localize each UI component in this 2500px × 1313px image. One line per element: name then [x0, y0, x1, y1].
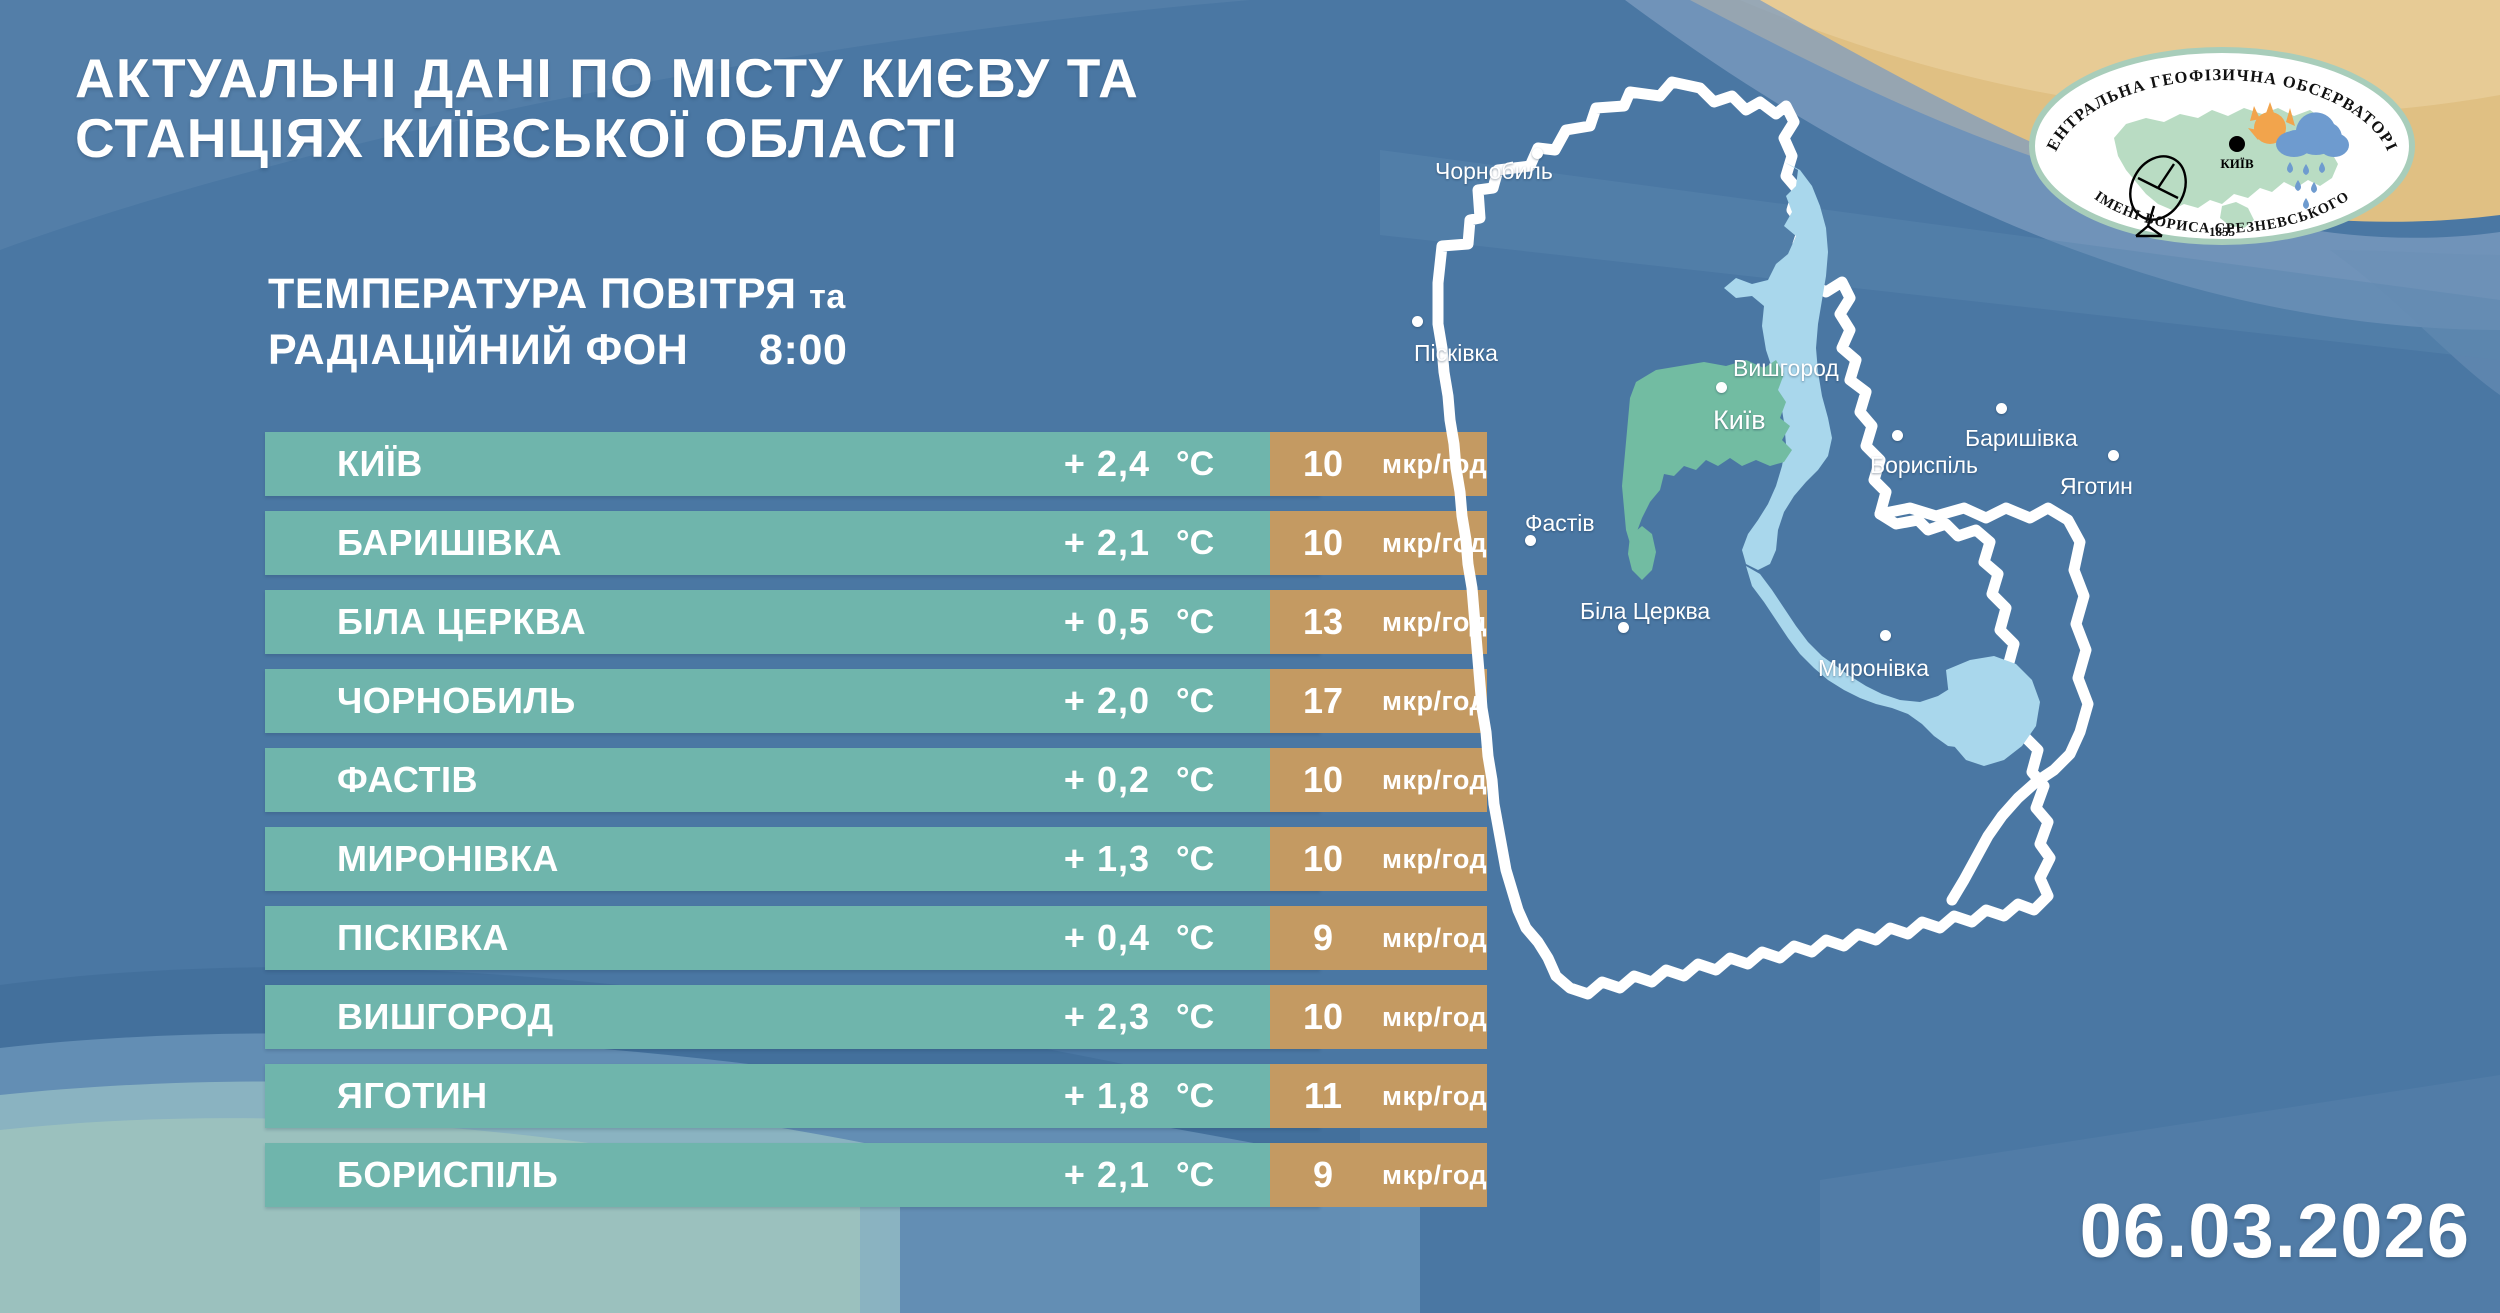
radiation-value: 10 [1294, 996, 1352, 1038]
temperature-value: + 2,3 [1005, 996, 1150, 1038]
map-label: Бориспіль [1870, 452, 1978, 479]
temperature-value: + 2,4 [1005, 443, 1150, 485]
logo-kyiv-label: КИЇВ [2220, 156, 2254, 171]
temperature-cell: + 2,4°C [1005, 432, 1270, 496]
table-row: ПІСКІВКА+ 0,4°C9мкр/год [265, 906, 1320, 970]
station-name-cell: БОРИСПІЛЬ [265, 1143, 1005, 1207]
temperature-unit: °C [1176, 998, 1214, 1037]
radiation-value: 9 [1294, 1154, 1352, 1196]
radiation-value: 11 [1294, 1075, 1352, 1117]
temperature-cell: + 2,3°C [1005, 985, 1270, 1049]
station-name: ФАСТІВ [337, 759, 478, 801]
map-dot-boryspil [1892, 430, 1903, 441]
table-row: МИРОНІВКА+ 1,3°C10мкр/год [265, 827, 1320, 891]
radiation-value: 10 [1294, 838, 1352, 880]
temperature-cell: + 0,4°C [1005, 906, 1270, 970]
map-dot-piskivka [1412, 316, 1423, 327]
table-row: БІЛА ЦЕРКВА+ 0,5°C13мкр/год [265, 590, 1320, 654]
temperature-unit: °C [1176, 840, 1214, 879]
station-name: БОРИСПІЛЬ [337, 1154, 558, 1196]
table-row: ФАСТІВ+ 0,2°C10мкр/год [265, 748, 1320, 812]
radiation-value: 10 [1294, 759, 1352, 801]
kaniv-reservoir [1946, 656, 2040, 766]
map-label: Яготин [2060, 473, 2133, 500]
temperature-unit: °C [1176, 445, 1214, 484]
observatory-logo: КИЇВ [2022, 46, 2422, 246]
map-dot-myronivka [1880, 630, 1891, 641]
station-name-cell: ФАСТІВ [265, 748, 1005, 812]
table-row: ЧОРНОБИЛЬ+ 2,0°C17мкр/год [265, 669, 1320, 733]
temperature-cell: + 2,1°C [1005, 511, 1270, 575]
subtitle-line-2: РАДІАЦІЙНИЙ ФОН 8:00 [268, 324, 1468, 377]
station-name-cell: КИЇВ [265, 432, 1005, 496]
station-name-cell: ПІСКІВКА [265, 906, 1005, 970]
station-name-cell: ЯГОТИН [265, 1064, 1005, 1128]
temperature-cell: + 0,2°C [1005, 748, 1270, 812]
infographic-canvas: АКТУАЛЬНІ ДАНІ ПО МІСТУ КИЄВУ ТА СТАНЦІЯ… [0, 0, 2500, 1313]
logo-kyiv-dot-icon [2229, 136, 2245, 152]
subtitle-conjunction: та [809, 278, 846, 316]
table-row: ЯГОТИН+ 1,8°C11мкр/год [265, 1064, 1320, 1128]
measurements-table: КИЇВ+ 2,4°C10мкр/годБАРИШІВКА+ 2,1°C10мк… [265, 432, 1320, 1222]
table-row: БОРИСПІЛЬ+ 2,1°C9мкр/год [265, 1143, 1320, 1207]
radiation-value: 9 [1294, 917, 1352, 959]
map-dot-vyshhorod [1716, 382, 1727, 393]
map-label: Баришівка [1965, 425, 2078, 452]
station-name: ПІСКІВКА [337, 917, 509, 959]
temperature-unit: °C [1176, 603, 1214, 642]
station-name: ЧОРНОБИЛЬ [337, 680, 576, 722]
station-name: ВИШГОРОД [337, 996, 554, 1038]
temperature-cell: + 0,5°C [1005, 590, 1270, 654]
page-title: АКТУАЛЬНІ ДАНІ ПО МІСТУ КИЄВУ ТА СТАНЦІЯ… [75, 48, 1395, 168]
temperature-value: + 2,0 [1005, 680, 1150, 722]
station-name-cell: БАРИШІВКА [265, 511, 1005, 575]
map-label: Чорнобиль [1435, 158, 1553, 185]
temperature-value: + 0,4 [1005, 917, 1150, 959]
temperature-unit: °C [1176, 919, 1214, 958]
station-name: МИРОНІВКА [337, 838, 559, 880]
report-date: 06.03.2026 [2080, 1188, 2470, 1275]
title-line-2: СТАНЦІЯХ КИЇВСЬКОЇ ОБЛАСТІ [75, 108, 1395, 168]
temperature-unit: °C [1176, 682, 1214, 721]
temperature-unit: °C [1176, 524, 1214, 563]
station-name: КИЇВ [337, 443, 423, 485]
map-label: Київ [1713, 405, 1766, 436]
title-line-1: АКТУАЛЬНІ ДАНІ ПО МІСТУ КИЄВУ ТА [75, 48, 1395, 108]
station-name: ЯГОТИН [337, 1075, 488, 1117]
map-label: Фастів [1525, 510, 1595, 537]
table-row: КИЇВ+ 2,4°C10мкр/год [265, 432, 1320, 496]
subtitle-line-1: ТЕМПЕРАТУРА ПОВІТРЯ та [268, 268, 1468, 324]
temperature-unit: °C [1176, 1156, 1214, 1195]
radiation-value: 10 [1294, 522, 1352, 564]
temperature-value: + 2,1 [1005, 1154, 1150, 1196]
station-name-cell: БІЛА ЦЕРКВА [265, 590, 1005, 654]
logo-svg: КИЇВ [2022, 46, 2422, 246]
temperature-unit: °C [1176, 1077, 1214, 1116]
map-label: Біла Церква [1580, 598, 1710, 625]
logo-founded-year: 1855 [2209, 224, 2236, 239]
temperature-unit: °C [1176, 761, 1214, 800]
temperature-value: + 1,3 [1005, 838, 1150, 880]
temperature-value: + 1,8 [1005, 1075, 1150, 1117]
map-dot-yahotyn [2108, 450, 2119, 461]
map-label: Вишгород [1733, 355, 1839, 382]
table-row: ВИШГОРОД+ 2,3°C10мкр/год [265, 985, 1320, 1049]
temperature-cell: + 1,8°C [1005, 1064, 1270, 1128]
observation-time: 8:00 [759, 324, 847, 377]
map-label: Пісківка [1414, 340, 1498, 367]
temperature-cell: + 2,1°C [1005, 1143, 1270, 1207]
radiation-value: 13 [1294, 601, 1352, 643]
station-name-cell: МИРОНІВКА [265, 827, 1005, 891]
map-label: Миронівка [1818, 655, 1929, 682]
station-name-cell: ЧОРНОБИЛЬ [265, 669, 1005, 733]
subtitle-temperature-label: ТЕМПЕРАТУРА ПОВІТРЯ [268, 270, 797, 318]
table-row: БАРИШІВКА+ 2,1°C10мкр/год [265, 511, 1320, 575]
temperature-value: + 0,2 [1005, 759, 1150, 801]
radiation-value: 17 [1294, 680, 1352, 722]
radiation-value: 10 [1294, 443, 1352, 485]
subtitle: ТЕМПЕРАТУРА ПОВІТРЯ та РАДІАЦІЙНИЙ ФОН 8… [268, 268, 1468, 377]
station-name-cell: ВИШГОРОД [265, 985, 1005, 1049]
temperature-value: + 2,1 [1005, 522, 1150, 564]
temperature-cell: + 1,3°C [1005, 827, 1270, 891]
temperature-value: + 0,5 [1005, 601, 1150, 643]
station-name: БАРИШІВКА [337, 522, 562, 564]
subtitle-radiation-label: РАДІАЦІЙНИЙ ФОН [268, 326, 688, 374]
station-name: БІЛА ЦЕРКВА [337, 601, 586, 643]
map-dot-baryshivka [1996, 403, 2007, 414]
temperature-cell: + 2,0°C [1005, 669, 1270, 733]
